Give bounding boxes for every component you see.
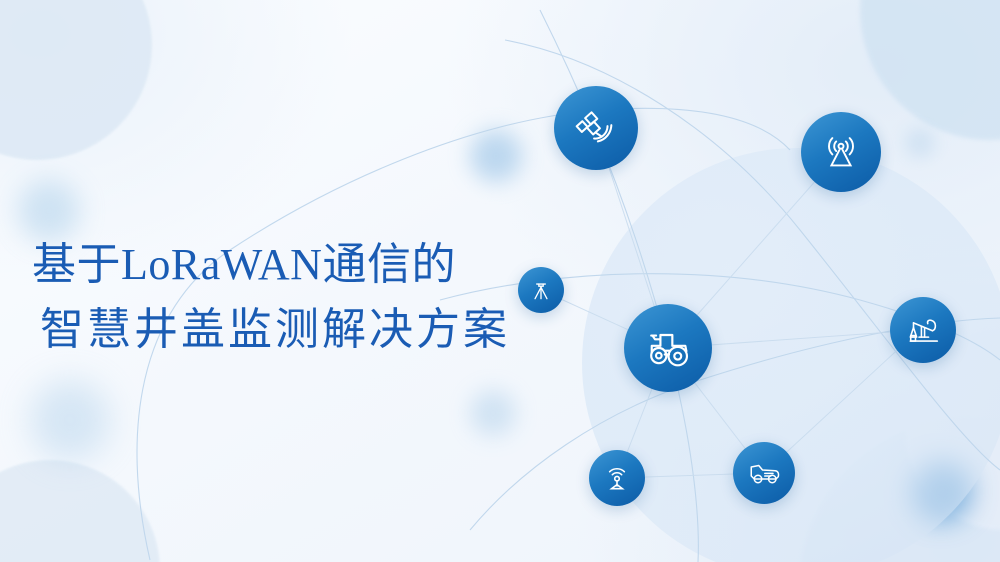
satellite-dish-icon (573, 105, 619, 151)
accent-dot-4 (470, 390, 516, 436)
node-antenna[interactable] (801, 112, 881, 192)
node-sensor[interactable] (589, 450, 645, 506)
background-blob-bottom-right (800, 420, 1000, 562)
wireless-sensor-icon (601, 462, 633, 494)
background-blob-top-right (860, 0, 1000, 140)
background-blob-bottom-left (0, 460, 160, 562)
background-blob-top-left (0, 0, 152, 160)
radio-tower-icon (818, 129, 864, 175)
accent-dot-6 (905, 128, 935, 158)
slide-title: 基于LoRaWAN通信的 智慧井盖监测解决方案 (32, 232, 572, 362)
node-mower[interactable] (733, 442, 795, 504)
accent-dot-3 (30, 380, 110, 460)
tractor-icon (642, 322, 694, 374)
accent-dot-1 (470, 130, 522, 182)
title-slide: 基于LoRaWAN通信的 智慧井盖监测解决方案 (0, 0, 1000, 562)
title-line-2: 智慧井盖监测解决方案 (32, 297, 572, 362)
node-tractor[interactable] (624, 304, 712, 392)
accent-dot-5 (910, 460, 972, 522)
node-pumpjack[interactable] (890, 297, 956, 363)
node-satellite[interactable] (554, 86, 638, 170)
title-line-1: 基于LoRaWAN通信的 (32, 232, 572, 297)
oil-pumpjack-icon (904, 311, 942, 349)
robot-mower-icon (746, 455, 782, 491)
